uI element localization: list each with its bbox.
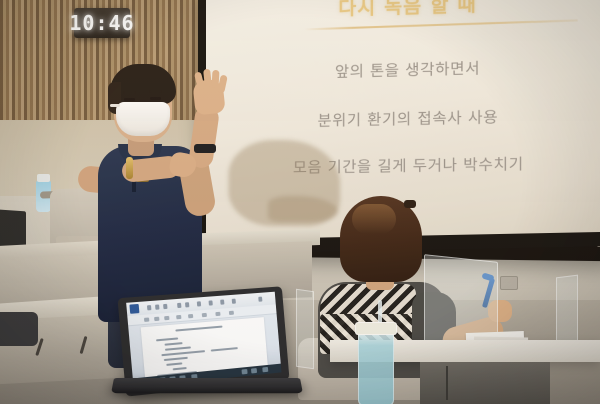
digital-wall-clock: 10:46 xyxy=(74,8,130,38)
power-cable xyxy=(446,366,448,400)
black-watch xyxy=(194,144,216,153)
instructor-eye-left xyxy=(124,98,135,101)
instructor-eye-right xyxy=(150,97,161,100)
document-text-line xyxy=(211,347,238,351)
classroom-photo: 10:46 다시 녹음 할 때 앞의 톤을 생각하면서 분위기 환기의 접속사 … xyxy=(0,0,600,404)
taskbar-icon[interactable] xyxy=(242,369,248,374)
open-laptop[interactable] xyxy=(112,292,302,404)
taskbar-icon[interactable] xyxy=(251,368,257,373)
slide-divider-rule xyxy=(305,19,578,30)
toolbar-icon[interactable] xyxy=(147,305,151,310)
ribbon-icon[interactable] xyxy=(176,315,181,319)
laptop-keyboard-base[interactable] xyxy=(111,378,303,393)
slide-bullet-2: 분위기 환기의 접속사 사용 xyxy=(206,103,600,133)
ribbon-icon[interactable] xyxy=(188,314,193,318)
word-processor-logo-icon xyxy=(129,304,139,314)
ribbon-icon[interactable] xyxy=(154,317,159,321)
toolbar-icon[interactable] xyxy=(163,304,167,309)
ribbon-icon[interactable] xyxy=(202,313,207,317)
hair-clip xyxy=(404,200,416,208)
toolbar-icon[interactable] xyxy=(232,299,236,304)
system-tray-icon[interactable] xyxy=(262,367,268,372)
standing-instructor xyxy=(70,58,250,318)
ribbon-icon[interactable] xyxy=(144,317,149,321)
document-text-line xyxy=(175,326,222,332)
slide-bullet-1: 앞의 톤을 생각하면서 xyxy=(206,53,600,85)
face-mask xyxy=(116,102,170,136)
document-text-line xyxy=(164,357,188,361)
ribbon-icon[interactable] xyxy=(215,312,220,316)
document-text-line xyxy=(161,350,205,356)
toolbar-icon[interactable] xyxy=(177,303,181,308)
toolbar-icon[interactable] xyxy=(185,302,189,307)
instructor-eyebrow-left xyxy=(123,91,136,94)
cup-lid xyxy=(355,322,397,335)
ribbon-icon[interactable] xyxy=(229,311,234,315)
document-text-line xyxy=(173,367,187,370)
attendee-hair-highlight xyxy=(352,204,396,234)
toolbar-icon[interactable] xyxy=(220,299,224,304)
document-text-line xyxy=(165,346,191,350)
toolbar-icon[interactable] xyxy=(258,297,262,302)
front-desk-panel xyxy=(420,362,550,404)
bag-on-floor xyxy=(0,312,38,346)
ribbon-icon[interactable] xyxy=(164,316,169,320)
finger xyxy=(203,69,212,88)
iced-drink-cup xyxy=(358,328,394,404)
document-text-line xyxy=(156,337,178,341)
document-text-line xyxy=(166,362,182,366)
instructor-eyebrow-right xyxy=(149,90,162,93)
bottle-cap xyxy=(37,174,50,182)
document-text-line xyxy=(164,342,182,346)
toolbar-icon[interactable] xyxy=(209,300,213,305)
clock-time: 10:46 xyxy=(74,8,130,38)
toolbar-icon[interactable] xyxy=(197,301,201,306)
gold-watch xyxy=(126,157,133,179)
laptop-screen[interactable] xyxy=(126,292,281,388)
toolbar-icon[interactable] xyxy=(155,304,159,309)
face-mask-strap xyxy=(110,104,120,107)
